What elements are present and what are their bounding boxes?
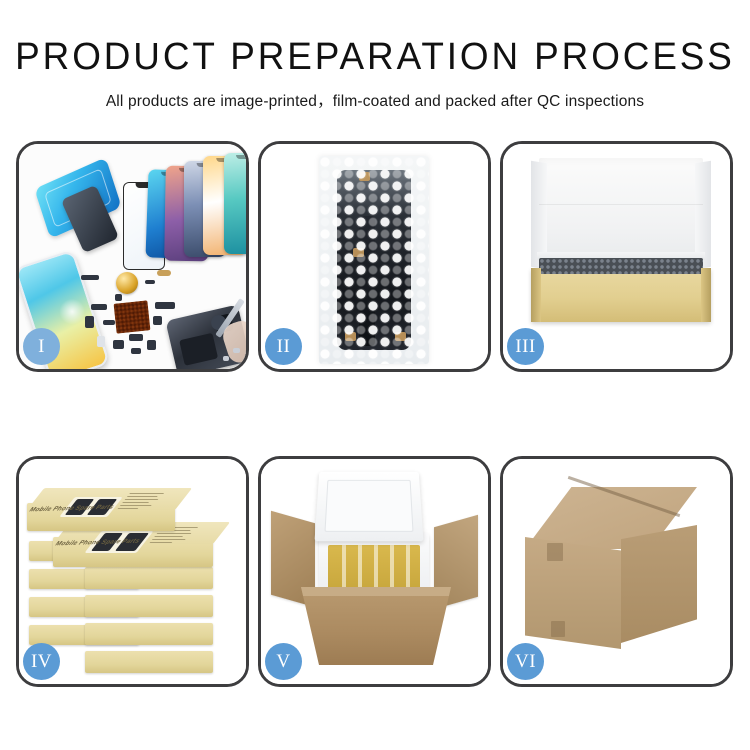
page-subtitle: All products are image-printed，film-coat… (0, 89, 750, 111)
step-panel-1: I (16, 141, 249, 372)
bubble-wrapped-package-icon (319, 156, 429, 364)
step-badge-6: VI (507, 643, 544, 680)
carton-tab-bottom (551, 621, 565, 637)
process-steps-grid: I II (16, 141, 734, 687)
step-badge-4: IV (23, 643, 60, 680)
bubble-wrap-fill-icon (539, 258, 703, 274)
camera-ring-icon (116, 272, 138, 294)
header: PRODUCT PREPARATION PROCESS All products… (0, 0, 750, 111)
phone-screen-icon-5 (224, 153, 246, 254)
step-panel-2: II (258, 141, 491, 372)
circuit-board-icon (114, 300, 151, 333)
step-badge-1: I (23, 328, 60, 365)
carton-tab-top (547, 543, 563, 561)
step-badge-3: III (507, 328, 544, 365)
yellow-box-icon (531, 268, 711, 322)
step-badge-2: II (265, 328, 302, 365)
step-panel-3: III (500, 141, 733, 372)
step-badge-5: V (265, 643, 302, 680)
page-title: PRODUCT PREPARATION PROCESS (11, 38, 739, 76)
yellow-boxes-inside (328, 545, 420, 593)
kraft-carton-icon (301, 587, 451, 665)
carton-left-face (525, 537, 621, 649)
step-panel-4: Mobile Phone Spare Parts Mobile Phone Sp… (16, 456, 249, 687)
product-preparation-infographic: PRODUCT PREPARATION PROCESS All products… (0, 0, 750, 750)
step-panel-5: V (258, 456, 491, 687)
foam-cooler-lid-icon (315, 472, 424, 541)
step-panel-6: VI (500, 456, 733, 687)
box-stack: Mobile Phone Spare Parts Mobile Phone Sp… (23, 475, 246, 675)
carton-right-face (621, 525, 697, 643)
